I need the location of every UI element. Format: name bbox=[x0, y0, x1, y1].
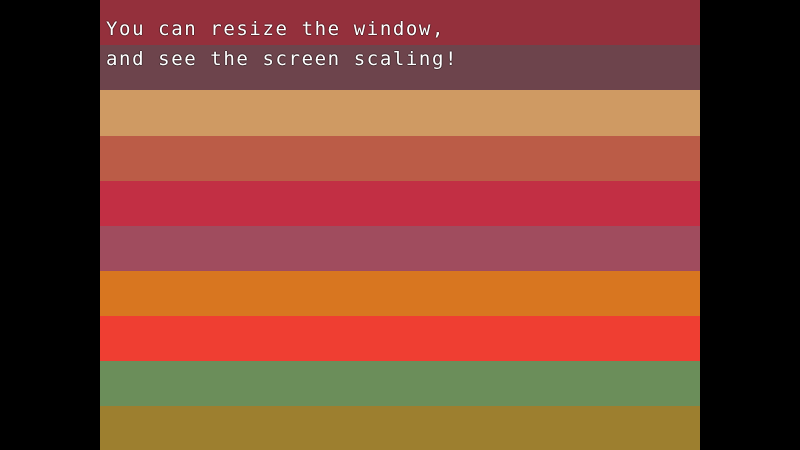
band-crimson-dark bbox=[100, 0, 700, 45]
app-screen: You can resize the window, and see the s… bbox=[0, 0, 800, 450]
band-brick bbox=[100, 136, 700, 181]
band-olive bbox=[100, 406, 700, 450]
band-orange bbox=[100, 271, 700, 316]
band-rose bbox=[100, 226, 700, 271]
scaled-viewport: You can resize the window, and see the s… bbox=[100, 0, 700, 450]
letterbox-bar-right bbox=[700, 0, 800, 450]
band-bright-red bbox=[100, 316, 700, 361]
band-tan bbox=[100, 90, 700, 136]
color-band-stack bbox=[100, 0, 700, 450]
band-red bbox=[100, 181, 700, 226]
band-mauve bbox=[100, 45, 700, 90]
band-green bbox=[100, 361, 700, 406]
letterbox-bar-left bbox=[0, 0, 100, 450]
